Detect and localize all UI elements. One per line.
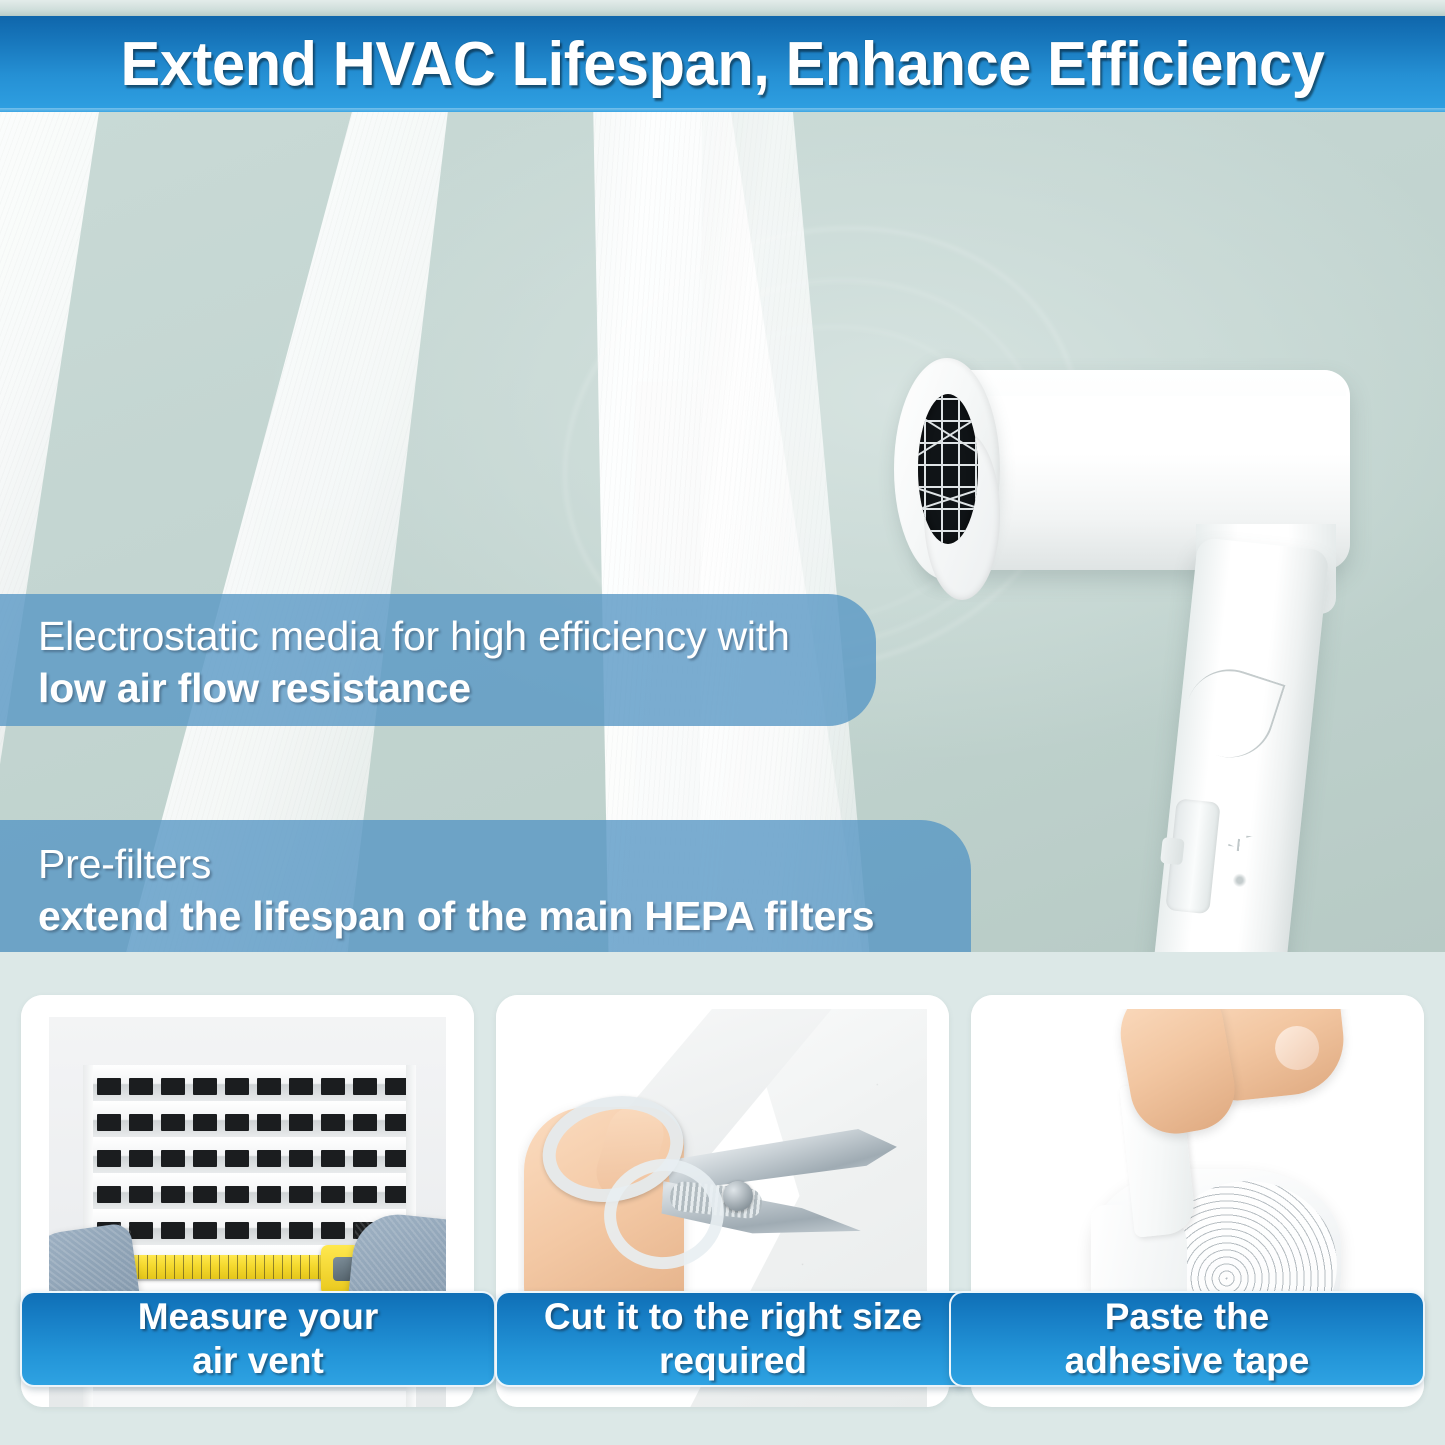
- vent-slot: [161, 1078, 185, 1095]
- dryer-switch-nub: [1160, 837, 1185, 865]
- vent-slot: [193, 1186, 217, 1203]
- vent-slot: [321, 1222, 345, 1239]
- step-caption-measure: Measure your air vent: [20, 1291, 496, 1387]
- scissors-pivot-screw: [723, 1181, 753, 1211]
- vent-slot: [257, 1186, 281, 1203]
- callout-line: Pre-filters: [38, 838, 941, 890]
- step-card-cut[interactable]: Cut it to the right size required: [496, 995, 949, 1407]
- hero-section: Electrostatic media for high efficiency …: [0, 112, 1445, 952]
- vent-slot: [321, 1186, 345, 1203]
- caption-line-2: required: [659, 1339, 807, 1383]
- vent-louver-row: [83, 1065, 416, 1103]
- vent-slot: [321, 1150, 345, 1167]
- product-infographic: Extend HVAC Lifespan, Enhance Efficiency: [0, 0, 1445, 1445]
- step-caption-cut: Cut it to the right size required: [495, 1291, 971, 1387]
- vent-slot: [129, 1186, 153, 1203]
- step-card-measure[interactable]: Measure your air vent: [21, 995, 474, 1407]
- vent-slot: [353, 1186, 377, 1203]
- vent-slot: [289, 1222, 313, 1239]
- vent-slot: [321, 1114, 345, 1131]
- callout-line-bold: extend the lifespan of the main HEPA fil…: [38, 890, 941, 942]
- vent-slot: [129, 1222, 153, 1239]
- vent-slot: [225, 1078, 249, 1095]
- dryer-barrel-highlight: [936, 370, 1346, 396]
- vent-slot: [257, 1222, 281, 1239]
- caption-line-2: adhesive tape: [1065, 1339, 1310, 1383]
- vent-slot: [257, 1114, 281, 1131]
- caption-line-1: Cut it to the right size: [544, 1295, 922, 1339]
- page-title: Extend HVAC Lifespan, Enhance Efficiency: [29, 16, 1416, 112]
- caption-line-2: air vent: [192, 1339, 324, 1383]
- top-edge-strip: [0, 0, 1445, 16]
- dryer-mode-icon: [1232, 873, 1247, 888]
- callout-line: Electrostatic media for high efficiency …: [38, 610, 846, 662]
- vent-slot: [289, 1150, 313, 1167]
- vent-slot: [353, 1150, 377, 1167]
- vent-slot: [129, 1150, 153, 1167]
- vent-slot: [225, 1222, 249, 1239]
- vent-slot: [193, 1222, 217, 1239]
- vent-slot: [161, 1150, 185, 1167]
- vent-slot: [193, 1114, 217, 1131]
- vent-slot: [97, 1114, 121, 1131]
- step-caption-paste: Paste the adhesive tape: [949, 1291, 1425, 1387]
- vent-slot: [161, 1114, 185, 1131]
- vent-slot: [161, 1186, 185, 1203]
- dryer-airflow-icon: [1227, 834, 1260, 863]
- vent-slot: [321, 1078, 345, 1095]
- vent-slot: [225, 1186, 249, 1203]
- vent-slot: [289, 1114, 313, 1131]
- steps-card-list: Measure your air vent: [21, 995, 1424, 1407]
- vent-slot: [257, 1078, 281, 1095]
- caption-line-1: Measure your: [138, 1295, 379, 1339]
- vent-slot: [129, 1114, 153, 1131]
- vent-slot: [257, 1150, 281, 1167]
- steps-section: Measure your air vent: [0, 952, 1445, 1445]
- dryer-grille-icon: [918, 394, 978, 544]
- vent-slot: [353, 1078, 377, 1095]
- vent-louver-row: [83, 1101, 416, 1139]
- step-card-paste[interactable]: Paste the adhesive tape: [971, 995, 1424, 1407]
- vent-slot: [97, 1150, 121, 1167]
- callout-prefilters: Pre-filters extend the lifespan of the m…: [0, 820, 971, 952]
- vent-slot: [97, 1186, 121, 1203]
- dryer-handle: [1146, 537, 1330, 952]
- callout-electrostatic: Electrostatic media for high efficiency …: [0, 594, 876, 726]
- dryer-power-switch: [1165, 798, 1220, 914]
- vent-slot: [97, 1078, 121, 1095]
- vent-slot: [353, 1114, 377, 1131]
- vent-slot: [129, 1078, 153, 1095]
- vent-louver-row: [83, 1137, 416, 1175]
- vent-slot: [289, 1078, 313, 1095]
- dryer-handle-seam: [1175, 658, 1286, 769]
- vent-slot: [225, 1150, 249, 1167]
- callout-line-bold: low air flow resistance: [38, 662, 846, 714]
- vent-slot: [193, 1150, 217, 1167]
- vent-slot: [225, 1114, 249, 1131]
- vent-louver-row: [83, 1173, 416, 1211]
- vent-slot: [161, 1222, 185, 1239]
- callout-line: and reduce the overall workload: [38, 943, 941, 952]
- vent-slot: [289, 1186, 313, 1203]
- caption-line-1: Paste the: [1105, 1295, 1270, 1339]
- vent-slot: [193, 1078, 217, 1095]
